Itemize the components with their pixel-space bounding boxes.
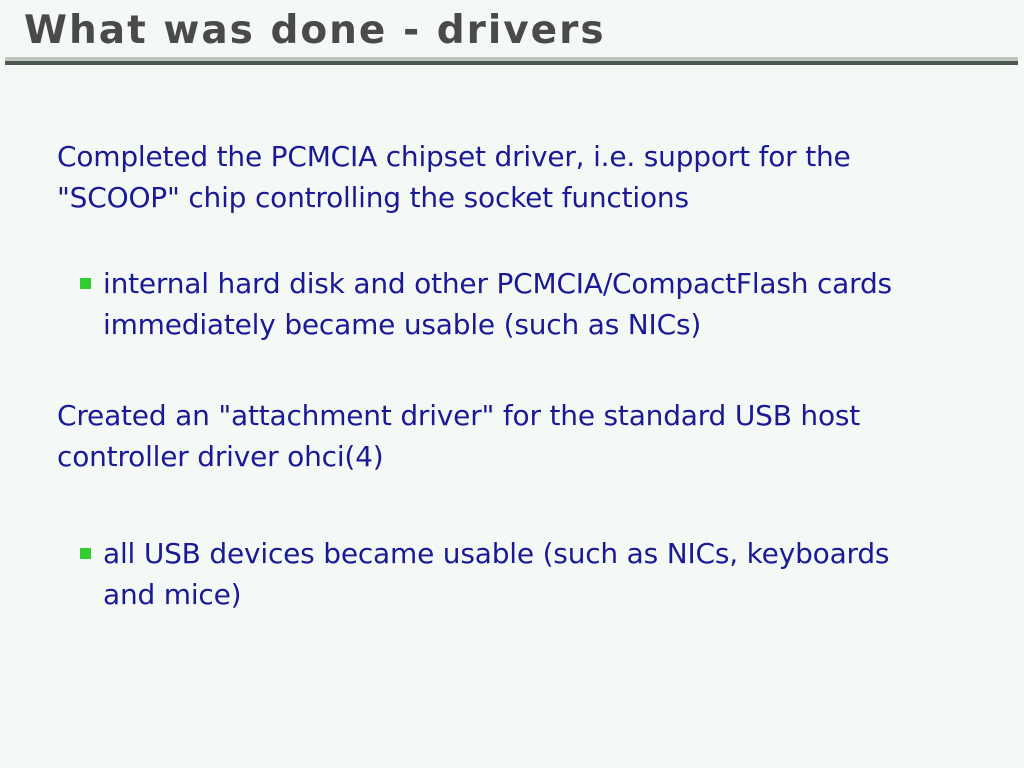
slide-title-block: What was done - drivers: [0, 0, 1024, 70]
body-paragraph-1: Completed the PCMCIA chipset driver, i.e…: [57, 136, 937, 218]
list-item: all USB devices became usable (such as N…: [80, 533, 940, 615]
title-divider-dark-line: [5, 61, 1018, 65]
list-item: internal hard disk and other PCMCIA/Comp…: [80, 263, 940, 345]
slide-body: Completed the PCMCIA chipset driver, i.e…: [0, 70, 1024, 768]
list-item-label: internal hard disk and other PCMCIA/Comp…: [103, 263, 940, 345]
square-bullet-icon: [80, 548, 91, 559]
body-paragraph-2: Created an "attachment driver" for the s…: [57, 395, 937, 477]
page-title: What was done - drivers: [24, 8, 606, 54]
list-item-label: all USB devices became usable (such as N…: [103, 533, 940, 615]
presentation-slide: What was done - drivers Completed the PC…: [0, 0, 1024, 768]
title-divider: [5, 57, 1018, 66]
square-bullet-icon: [80, 278, 91, 289]
